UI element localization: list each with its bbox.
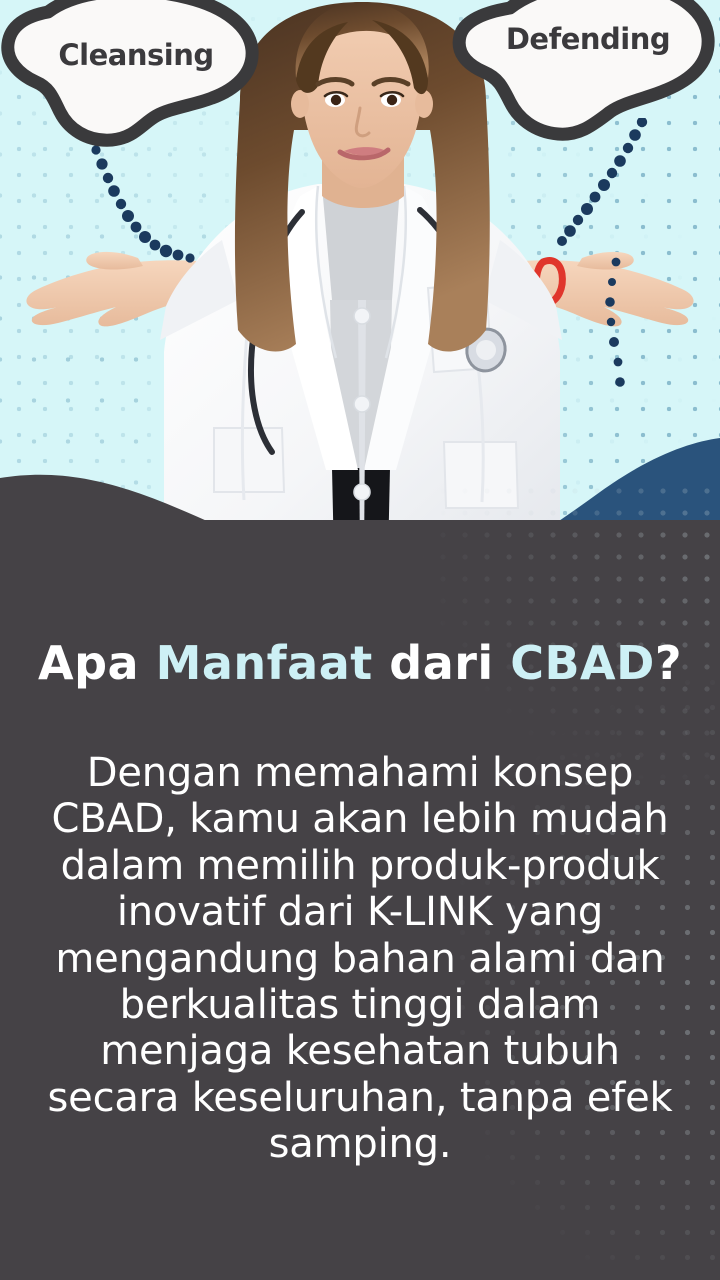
- speech-bubble-cleansing[interactable]: Cleansing: [2, 0, 270, 144]
- paragraph-line: dalam memilih produk-produk: [30, 843, 690, 889]
- headline-part-apa: Apa: [38, 636, 156, 690]
- paragraph-line: CBAD, kamu akan lebih mudah: [30, 796, 690, 842]
- content-section: Apa Manfaat dari CBAD? Dengan memahami k…: [0, 520, 720, 1280]
- paragraph-line: mengandung bahan alami dan: [30, 936, 690, 982]
- poster-root: Cleansing Defending Apa Manfaat dari CBA…: [0, 0, 720, 1280]
- paragraph-line: secara keseluruhan, tanpa efek: [30, 1075, 690, 1121]
- bubble-tail-left: [70, 128, 250, 298]
- paragraph-line: menjaga kesehatan tubuh: [30, 1028, 690, 1074]
- paragraph-line: berkualitas tinggi dalam: [30, 982, 690, 1028]
- paragraph-line: Dengan memahami konsep: [30, 750, 690, 796]
- speech-bubble-defending[interactable]: Defending: [452, 0, 720, 134]
- bubble-label-cleansing: Cleansing: [2, 38, 270, 72]
- body-paragraph: Dengan memahami konsep CBAD, kamu akan l…: [30, 750, 690, 1168]
- headline-part-manfaat: Manfaat: [156, 636, 390, 690]
- content-wrapper: Apa Manfaat dari CBAD? Dengan memahami k…: [0, 520, 720, 1280]
- paragraph-line: inovatif dari K-LINK yang: [30, 889, 690, 935]
- doctor-eye: [387, 95, 397, 105]
- headline-part-dari: dari: [389, 636, 510, 690]
- headline-part-question: ?: [655, 636, 682, 690]
- doctor-eye: [331, 95, 341, 105]
- paragraph-line: samping.: [30, 1121, 690, 1167]
- headline-part-cbad: CBAD: [510, 636, 655, 690]
- coat-button: [354, 308, 370, 324]
- bubble-label-defending: Defending: [452, 22, 720, 56]
- page-title: Apa Manfaat dari CBAD?: [0, 638, 720, 689]
